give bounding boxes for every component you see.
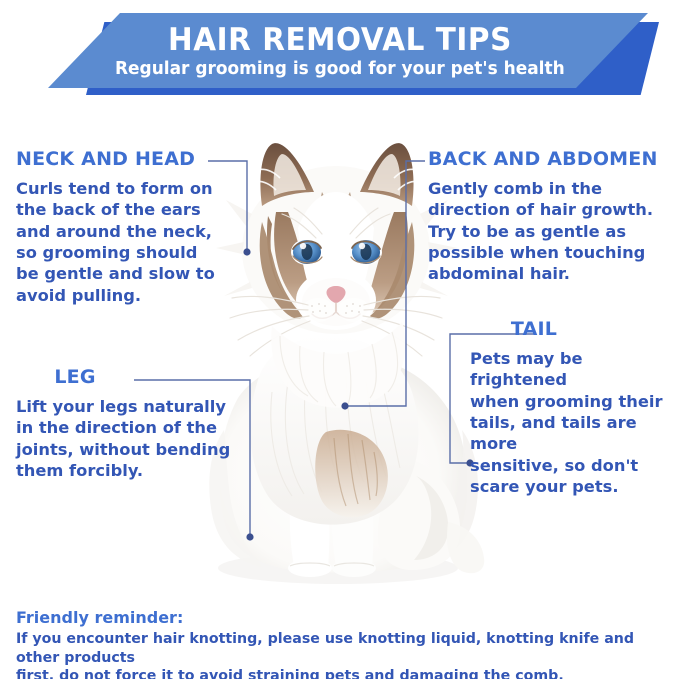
header-banner: HAIR REMOVAL TIPS Regular grooming is go…	[0, 0, 679, 105]
callout-heading-leg: LEG	[16, 368, 134, 387]
callout-body-tail: Pets may be frightened when grooming the…	[470, 348, 679, 497]
callout-leg: LEG Lift your legs naturally in the dire…	[16, 368, 231, 481]
callout-heading-tail: TAIL	[470, 320, 598, 339]
callout-tail: TAIL Pets may be frightened when groomin…	[470, 320, 679, 497]
callout-neck-and-head: NECK AND HEAD Curls tend to form on the …	[16, 150, 231, 306]
footer-body: If you encounter hair knotting, please u…	[16, 630, 664, 679]
footer-reminder: Friendly reminder: If you encounter hair…	[16, 608, 664, 679]
callout-body-neck-and-head: Curls tend to form on the back of the ea…	[16, 178, 231, 306]
banner-light-shape	[48, 13, 648, 88]
callout-body-back-and-abdomen: Gently comb in the direction of hair gro…	[428, 178, 673, 285]
callout-heading-back-and-abdomen: BACK AND ABDOMEN	[428, 150, 673, 169]
infographic-page: HAIR REMOVAL TIPS Regular grooming is go…	[0, 0, 679, 679]
callout-body-leg: Lift your legs naturally in the directio…	[16, 396, 231, 481]
footer-title: Friendly reminder:	[16, 608, 664, 628]
callout-heading-neck-and-head: NECK AND HEAD	[16, 150, 231, 169]
callout-back-and-abdomen: BACK AND ABDOMEN Gently comb in the dire…	[428, 150, 673, 285]
